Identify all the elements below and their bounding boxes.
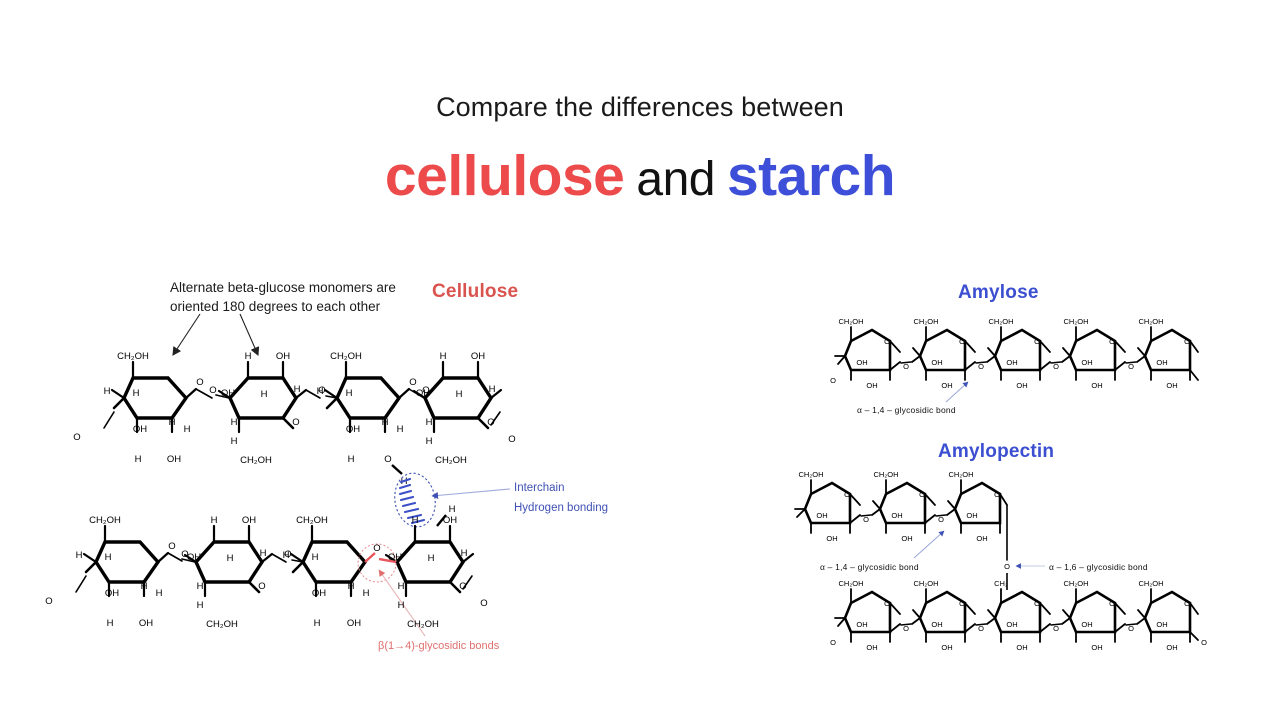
amylopectin-top-ring-3 [947, 480, 1007, 533]
svg-text:O: O [903, 362, 909, 371]
svg-text:CH₂OH: CH₂OH [1139, 317, 1164, 326]
svg-text:OH: OH [1156, 358, 1167, 367]
svg-text:OH: OH [856, 358, 867, 367]
svg-text:OH: OH [816, 511, 827, 520]
svg-text:O: O [830, 376, 836, 385]
svg-text:O: O [903, 624, 909, 633]
svg-text:CH₂OH: CH₂OH [799, 470, 824, 479]
amylose-ring-4 [1062, 327, 1125, 380]
svg-text:O: O [1201, 638, 1207, 647]
svg-text:OH: OH [931, 358, 942, 367]
svg-text:CH₂OH: CH₂OH [839, 317, 864, 326]
svg-text:OH: OH [1081, 620, 1092, 629]
amylose-ring-3 [987, 327, 1050, 380]
amylopectin-bottom-ring-5 [1137, 589, 1198, 642]
amylopectin-bottom-ring-3-branchpoint [987, 589, 1050, 642]
svg-text:CH₂OH: CH₂OH [1064, 317, 1089, 326]
svg-text:OH: OH [931, 620, 942, 629]
amylopectin-bottom-ring-1 [835, 589, 900, 642]
svg-text:O: O [959, 337, 965, 346]
svg-text:OH: OH [901, 534, 912, 543]
svg-text:O: O [959, 599, 965, 608]
svg-text:CH₂OH: CH₂OH [1139, 579, 1164, 588]
svg-text:OH: OH [866, 381, 877, 390]
svg-text:OH: OH [1166, 381, 1177, 390]
svg-text:OH: OH [1091, 643, 1102, 652]
svg-text:O: O [1109, 337, 1115, 346]
svg-text:O: O [978, 362, 984, 371]
svg-text:O: O [994, 490, 1000, 499]
svg-text:OH: OH [1006, 620, 1017, 629]
amylose-ring-2 [912, 327, 975, 380]
svg-text:OH: OH [941, 381, 952, 390]
svg-text:OH: OH [891, 511, 902, 520]
svg-text:CH₂OH: CH₂OH [874, 470, 899, 479]
svg-text:O: O [1053, 362, 1059, 371]
amylose-chain [835, 327, 1198, 380]
amylose-atom-labels: CH₂OHCH₂OHCH₂OH CH₂OHCH₂OH OOO OO OHOHOH… [830, 317, 1190, 390]
svg-text:O: O [919, 490, 925, 499]
svg-text:O: O [884, 599, 890, 608]
svg-text:O: O [863, 515, 869, 524]
svg-text:O: O [1184, 337, 1190, 346]
svg-text:OH: OH [1091, 381, 1102, 390]
svg-text:CH₂OH: CH₂OH [839, 579, 864, 588]
svg-text:O: O [1184, 599, 1190, 608]
amylopectin-top-ring-1 [795, 480, 860, 533]
starch-structure-diagram: CH₂OHCH₂OHCH₂OH CH₂OHCH₂OH OOO OO OHOHOH… [0, 0, 1280, 720]
svg-text:OH: OH [1081, 358, 1092, 367]
svg-text:CH₂: CH₂ [994, 579, 1008, 588]
amylopectin-14-leader [914, 531, 944, 558]
svg-text:OH: OH [1016, 381, 1027, 390]
svg-text:CH₂OH: CH₂OH [989, 317, 1014, 326]
svg-text:CH₂OH: CH₂OH [949, 470, 974, 479]
svg-text:O: O [1128, 624, 1134, 633]
svg-text:OH: OH [866, 643, 877, 652]
svg-text:CH₂OH: CH₂OH [914, 579, 939, 588]
svg-text:CH₂OH: CH₂OH [1064, 579, 1089, 588]
svg-text:OH: OH [1156, 620, 1167, 629]
svg-text:O: O [1034, 337, 1040, 346]
svg-text:O: O [1128, 362, 1134, 371]
svg-text:OH: OH [856, 620, 867, 629]
svg-text:O: O [844, 490, 850, 499]
svg-text:O: O [1034, 599, 1040, 608]
svg-text:OH: OH [976, 534, 987, 543]
svg-text:O: O [1053, 624, 1059, 633]
amylopectin-bottom-chain [835, 589, 1198, 642]
svg-text:OH: OH [1166, 643, 1177, 652]
amylose-ring-5 [1137, 327, 1198, 380]
amylose-ring-1 [835, 327, 900, 380]
svg-text:O: O [830, 638, 836, 647]
slide-canvas: Compare the differences between cellulos… [0, 0, 1280, 720]
svg-text:OH: OH [1006, 358, 1017, 367]
svg-text:OH: OH [826, 534, 837, 543]
svg-text:OH: OH [966, 511, 977, 520]
amylopectin-top-chain [795, 480, 1007, 560]
amylopectin-top-atom-labels: CH₂OHCH₂OHCH₂OH OOO OHOHOH OHOHOH OO O [799, 470, 1011, 590]
svg-text:O: O [884, 337, 890, 346]
svg-text:CH₂OH: CH₂OH [914, 317, 939, 326]
amylopectin-top-ring-2 [872, 480, 935, 533]
svg-text:O: O [938, 515, 944, 524]
svg-text:OH: OH [1016, 643, 1027, 652]
svg-text:O: O [1109, 599, 1115, 608]
svg-text:O: O [978, 624, 984, 633]
svg-text:O: O [1004, 562, 1010, 571]
amylopectin-bottom-ring-4 [1062, 589, 1125, 642]
amylopectin-bottom-ring-2 [912, 589, 975, 642]
svg-text:OH: OH [941, 643, 952, 652]
